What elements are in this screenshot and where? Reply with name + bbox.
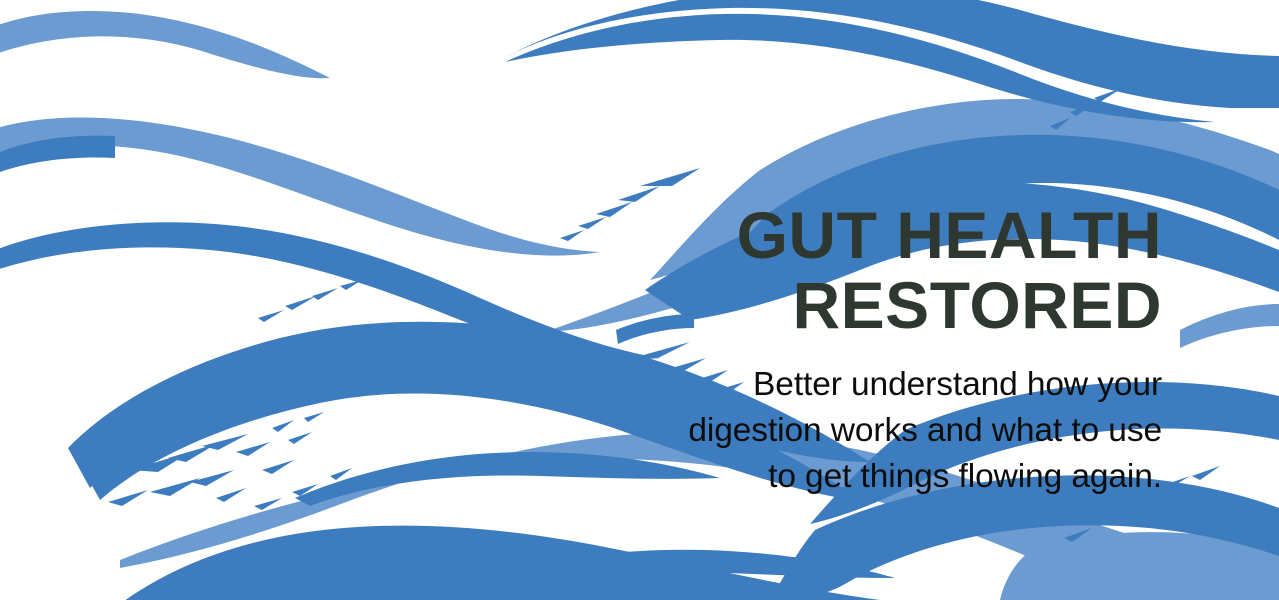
gut-health-banner: GUT HEALTH RESTORED Better understand ho… [0, 0, 1279, 600]
banner-text-block: GUT HEALTH RESTORED Better understand ho… [520, 200, 1162, 500]
page-subtitle: Better understand how your digestion wor… [520, 340, 1162, 500]
page-title: GUT HEALTH RESTORED [520, 200, 1162, 340]
subtitle-line-2: digestion works and what to use [520, 408, 1162, 454]
subtitle-line-3: to get things flowing again. [520, 454, 1162, 500]
headline-line-2: RESTORED [520, 270, 1162, 340]
subtitle-line-1: Better understand how your [520, 362, 1162, 408]
headline-line-1: GUT HEALTH [520, 200, 1162, 270]
